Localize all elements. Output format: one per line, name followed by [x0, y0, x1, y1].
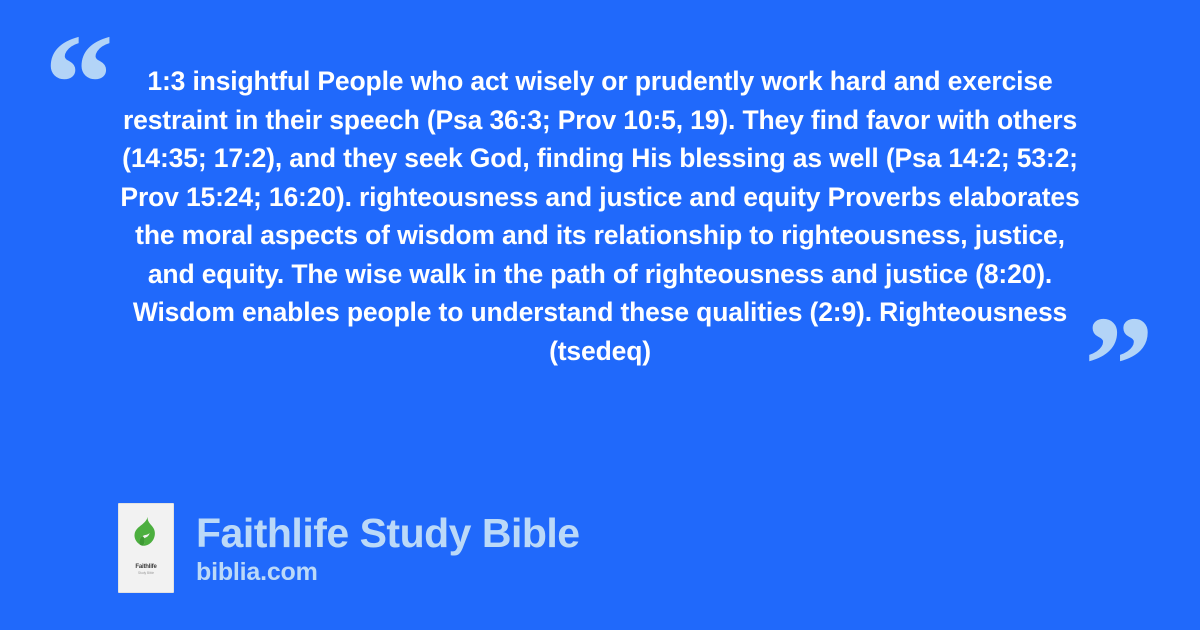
logo-subcaption: Study Bible [138, 572, 154, 575]
closing-quote-icon: ” [1084, 296, 1154, 436]
opening-quote-icon: “ [44, 14, 114, 154]
quote-block: 1:3 insightful People who act wisely or … [110, 62, 1090, 370]
quote-card: “ 1:3 insightful People who act wisely o… [0, 0, 1200, 630]
leaf-icon [133, 516, 159, 550]
logo-caption: Faithlife [135, 564, 156, 570]
footer-branding: Faithlife Study Bible Faithlife Study Bi… [118, 503, 580, 593]
faithlife-logo-thumbnail: Faithlife Study Bible [118, 503, 174, 593]
brand-url[interactable]: biblia.com [196, 557, 580, 587]
brand-title: Faithlife Study Bible [196, 510, 580, 556]
brand-text-group: Faithlife Study Bible biblia.com [196, 510, 580, 587]
quote-text: 1:3 insightful People who act wisely or … [110, 62, 1090, 370]
